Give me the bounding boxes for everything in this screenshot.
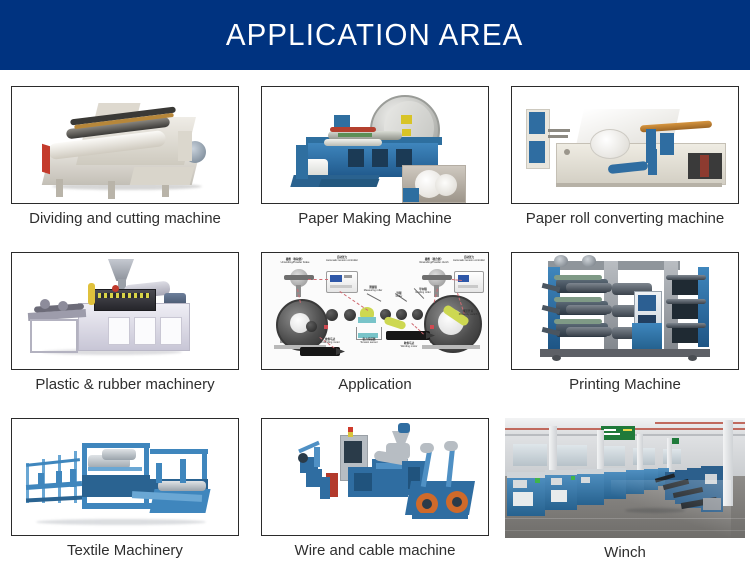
caption-winch: Winch — [604, 544, 646, 561]
artwork-paper-making-machine — [262, 87, 488, 203]
grid-cell-textile-machinery[interactable]: Textile Machinery — [0, 402, 250, 568]
image-dividing-and-cutting-machine[interactable] — [11, 86, 239, 204]
caption-dividing-and-cutting-machine: Dividing and cutting machine — [29, 210, 221, 227]
caption-paper-roll-converting-machine: Paper roll converting machine — [526, 210, 724, 227]
diagram-label-proximity-switch: 接近开关 Proximity switch — [448, 311, 488, 317]
image-printing-machine[interactable] — [511, 252, 739, 370]
artwork-plastic-rubber-extruder — [12, 253, 238, 369]
image-application-diagram[interactable]: 磁粉（制动器） Unwinding/Powder brake 自动张力 Auto… — [261, 252, 489, 370]
image-plastic-and-rubber-machinery[interactable] — [11, 252, 239, 370]
grid-cell-wire-and-cable-machine[interactable]: Wire and cable machine — [250, 402, 500, 568]
diagram-label-automatic-tension-controller-left: 自动张力 Automatic tension controller — [316, 257, 368, 263]
caption-plastic-and-rubber-machinery: Plastic & rubber machinery — [35, 376, 214, 393]
grid-cell-plastic-and-rubber-machinery[interactable]: Plastic & rubber machinery — [0, 236, 250, 402]
diagram-label-guiding-roller: 导向辊 Guiding roller — [404, 289, 442, 295]
image-paper-making-machine[interactable] — [261, 86, 489, 204]
image-winch[interactable] — [505, 418, 745, 538]
diagram-label-unwinding-motor: 放卷马达 Unwinding motor — [310, 339, 350, 345]
artwork-slitting-machine — [12, 87, 238, 203]
artwork-winch-factory-floor — [505, 418, 745, 538]
image-wire-and-cable-machine[interactable] — [261, 418, 489, 536]
page-title: APPLICATION AREA — [226, 17, 524, 53]
grid-cell-dividing-and-cutting-machine[interactable]: Dividing and cutting machine — [0, 70, 250, 236]
artwork-paper-roll-converting-machine — [512, 87, 738, 203]
diagram-label-tension-sensor: 张力传感器 Tension sensor — [348, 339, 390, 345]
caption-printing-machine: Printing Machine — [569, 376, 681, 393]
grid-cell-paper-roll-converting-machine[interactable]: Paper roll converting machine — [500, 70, 750, 236]
caption-paper-making-machine: Paper Making Machine — [298, 210, 451, 227]
artwork-flexo-printing-machine — [512, 253, 738, 369]
application-area-page: APPLICATION AREA — [0, 0, 750, 568]
diagram-label-automatic-tension-controller-right: 自动张力 Automatic tension controller — [446, 257, 489, 263]
artwork-wire-cable-line — [262, 419, 488, 535]
application-grid: Dividing and cutting machine — [0, 70, 750, 568]
caption-application: Application — [338, 376, 411, 393]
grid-cell-paper-making-machine[interactable]: Paper Making Machine — [250, 70, 500, 236]
artwork-tension-control-diagram: 磁粉（制动器） Unwinding/Powder brake 自动张力 Auto… — [262, 253, 488, 369]
artwork-textile-line — [12, 419, 238, 535]
image-paper-roll-converting-machine[interactable] — [511, 86, 739, 204]
grid-cell-winch[interactable]: Winch — [500, 402, 750, 568]
caption-wire-and-cable-machine: Wire and cable machine — [295, 542, 456, 559]
image-textile-machinery[interactable] — [11, 418, 239, 536]
page-header-banner: APPLICATION AREA — [0, 0, 750, 70]
caption-textile-machinery: Textile Machinery — [67, 542, 183, 559]
diagram-label-winding-motor: 收卷马达 Winding motor — [388, 343, 430, 349]
grid-cell-printing-machine[interactable]: Printing Machine — [500, 236, 750, 402]
grid-cell-application-diagram[interactable]: 磁粉（制动器） Unwinding/Powder brake 自动张力 Auto… — [250, 236, 500, 402]
